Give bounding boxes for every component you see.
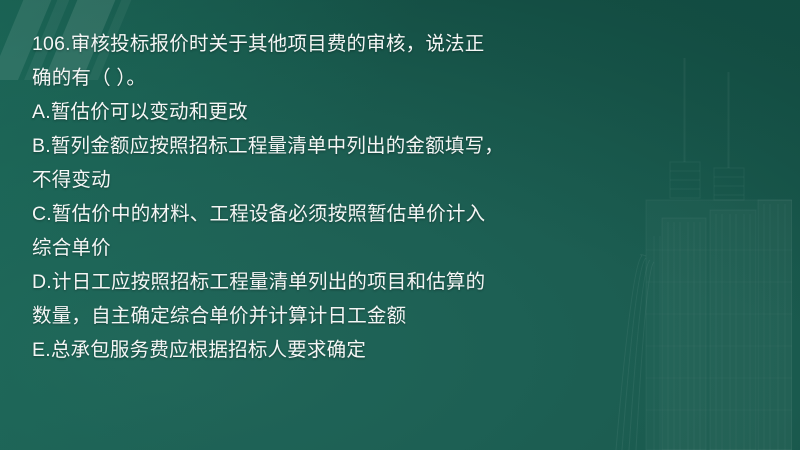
option-e-line-1: E.总承包服务费应根据招标人要求确定 [32, 333, 552, 367]
option-c-line-1: C.暂估价中的材料、工程设备必须按照暂估单价计入 [32, 197, 552, 231]
option-d-line-2: 数量，自主确定综合单价并计算计日工金额 [32, 299, 552, 333]
option-b-line-2: 不得变动 [32, 163, 552, 197]
option-a-line-1: A.暂估价可以变动和更改 [32, 95, 552, 129]
question-line-2: 确的有（ ）。 [32, 61, 552, 95]
question-text-block: 106.审核投标报价时关于其他项目费的审核，说法正 确的有（ ）。 A.暂估价可… [32, 27, 552, 367]
skyscraper-watermark [602, 50, 792, 450]
option-d-line-1: D.计日工应按照招标工程量清单列出的项目和估算的 [32, 265, 552, 299]
slide-root: 106.审核投标报价时关于其他项目费的审核，说法正 确的有（ ）。 A.暂估价可… [0, 0, 800, 450]
question-line-1: 106.审核投标报价时关于其他项目费的审核，说法正 [32, 27, 552, 61]
option-b-line-1: B.暂列金额应按照招标工程量清单中列出的金额填写， [32, 129, 552, 163]
option-c-line-2: 综合单价 [32, 231, 552, 265]
